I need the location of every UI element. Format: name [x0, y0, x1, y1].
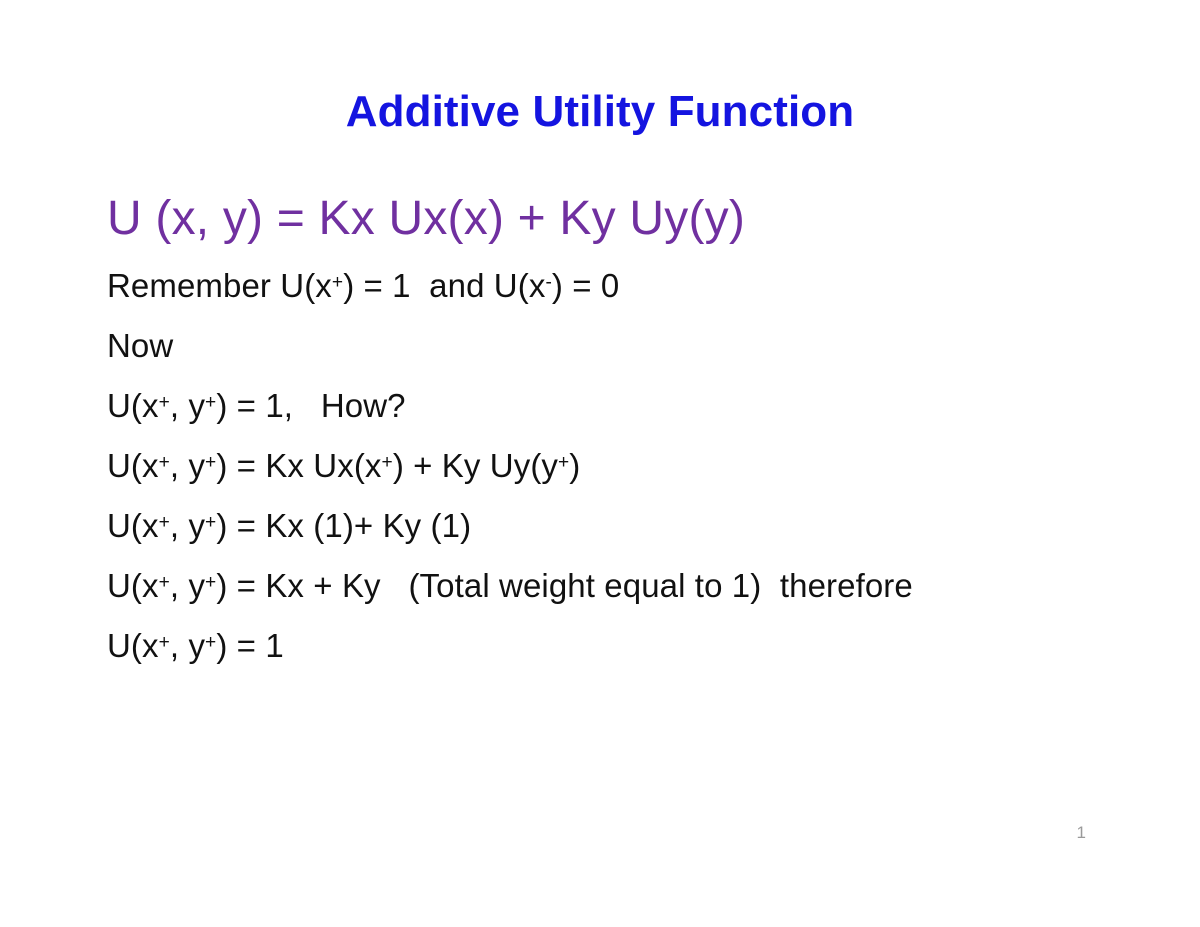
superscript: + [205, 452, 216, 473]
page-title: Additive Utility Function [0, 88, 1200, 136]
superscript: + [159, 512, 170, 533]
now-line: Now [107, 316, 1167, 376]
remember-line: Remember U(x+) = 1 and U(x-) = 0 [107, 256, 1167, 316]
equation-3: U(x+, y+) = Kx (1)+ Ky (1) [107, 496, 1167, 556]
superscript: + [159, 572, 170, 593]
page-number: 1 [1077, 823, 1086, 843]
equation-2: U(x+, y+) = Kx Ux(x+) + Ky Uy(y+) [107, 436, 1167, 496]
superscript: + [159, 452, 170, 473]
headline-equation: U (x, y) = Kx Ux(x) + Ky Uy(y) [107, 182, 1167, 256]
superscript: - [545, 272, 551, 293]
slide-body-content: U (x, y) = Kx Ux(x) + Ky Uy(y)Remember U… [107, 182, 1167, 676]
equation-4: U(x+, y+) = Kx + Ky (Total weight equal … [107, 556, 1167, 616]
superscript: + [159, 392, 170, 413]
superscript: + [205, 512, 216, 533]
equation-1: U(x+, y+) = 1, How? [107, 376, 1167, 436]
superscript: + [159, 632, 170, 653]
superscript: + [332, 272, 343, 293]
superscript: + [382, 452, 393, 473]
superscript: + [205, 392, 216, 413]
presentation-slide: Additive Utility Function U (x, y) = Kx … [0, 0, 1200, 927]
superscript: + [205, 572, 216, 593]
equation-5: U(x+, y+) = 1 [107, 616, 1167, 676]
superscript: + [558, 452, 569, 473]
superscript: + [205, 632, 216, 653]
